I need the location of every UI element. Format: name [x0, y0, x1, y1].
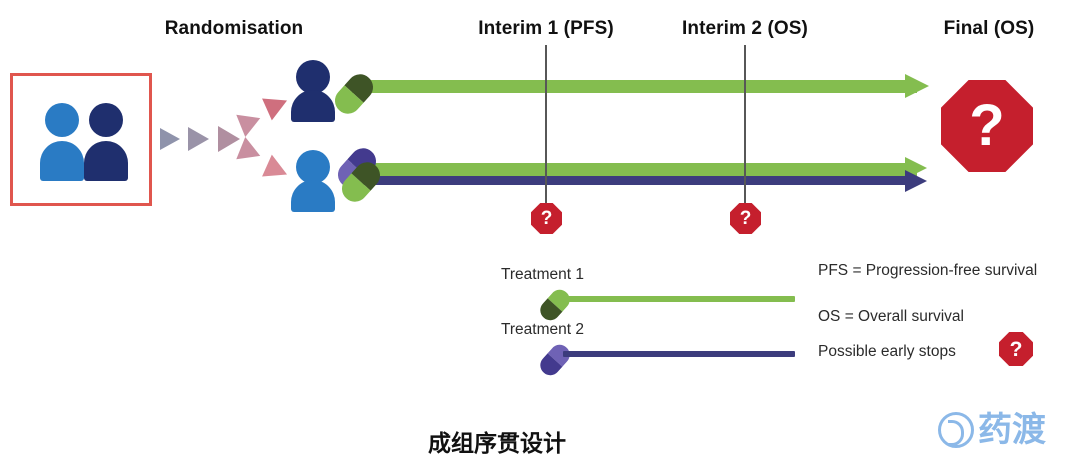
legend-line-treatment-2 — [563, 351, 795, 357]
interim-1-stop-sign[interactable]: ? — [531, 203, 562, 234]
header-interim-2: Interim 2 (OS) — [645, 18, 845, 40]
header-interim-1: Interim 1 (PFS) — [446, 18, 646, 40]
arm-1-capsule — [330, 69, 379, 119]
diagram-canvas: Randomisation Interim 1 (PFS) Interim 2 … — [0, 0, 1080, 475]
interim-2-stop-sign[interactable]: ? — [730, 203, 761, 234]
watermark: 药渡 — [938, 412, 1046, 448]
abbrev-os: OS = Overall survival — [818, 308, 964, 326]
legend-treatment-2-label: Treatment 2 — [501, 321, 584, 339]
legend-line-treatment-1 — [563, 296, 795, 302]
watermark-text: 药渡 — [978, 413, 1046, 447]
arm-2-person-icon — [291, 150, 335, 208]
interim-1-tick-line — [545, 45, 547, 213]
randomisation-chevrons — [160, 80, 290, 200]
watermark-logo-icon — [938, 412, 974, 448]
abbrev-possible-early-stops: Possible early stops — [818, 343, 956, 361]
patient-icon-blue — [40, 103, 84, 181]
page-title: 成组序贯设计 — [428, 424, 566, 458]
interim-2-tick-line — [744, 45, 746, 213]
patient-icon-navy — [84, 103, 128, 181]
arm-2-arrowhead-navy — [905, 170, 927, 192]
arm-1-timeline-bar — [352, 80, 917, 93]
arm-2-timeline-bar-green — [352, 163, 917, 176]
arm-1-arrowhead — [905, 74, 929, 98]
arm-1-person-icon — [291, 60, 335, 118]
abbrev-pfs: PFS = Progression-free survival — [818, 262, 1037, 280]
header-randomisation: Randomisation — [134, 18, 334, 40]
legend-capsule-treatment-2 — [536, 341, 574, 380]
patient-population-box — [10, 73, 152, 206]
legend-capsule-treatment-1 — [536, 286, 574, 325]
header-final: Final (OS) — [909, 18, 1069, 40]
final-stop-sign[interactable]: ? — [941, 80, 1033, 172]
legend-stop-sign: ? — [999, 332, 1033, 366]
arm-2-timeline-bar-navy — [352, 176, 917, 185]
legend-treatment-1-label: Treatment 1 — [501, 266, 584, 284]
